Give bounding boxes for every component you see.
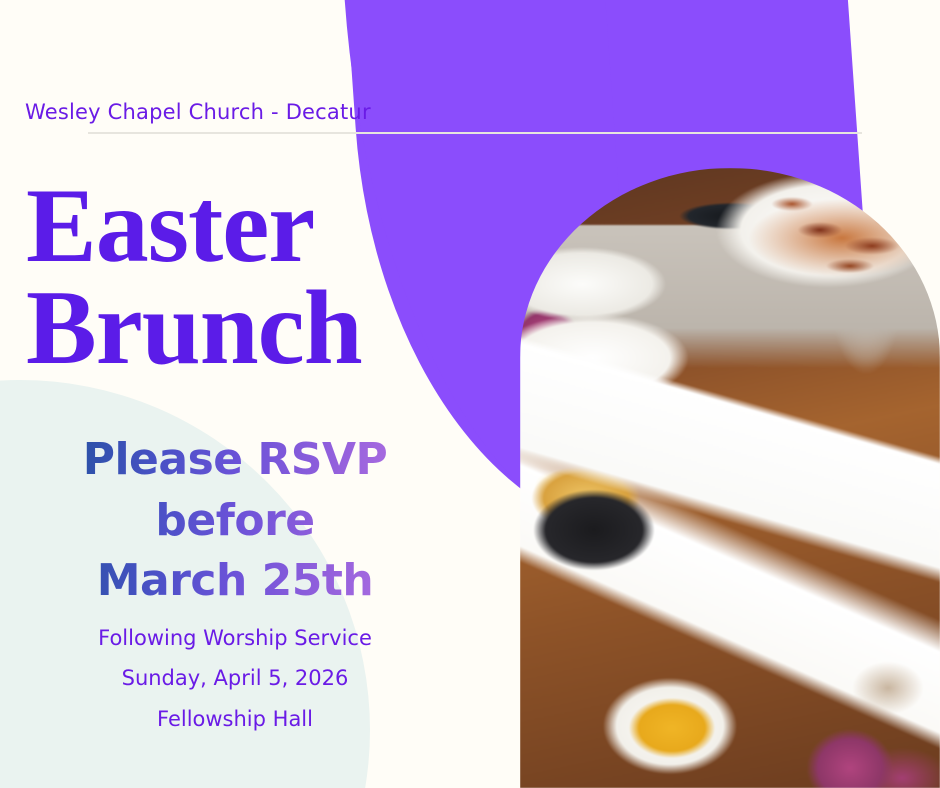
detail-line-location: Fellowship Hall	[0, 699, 470, 739]
page-title: Easter Brunch	[26, 175, 456, 379]
headline-line-1: Easter	[26, 175, 456, 277]
rsvp-callout: Please RSVP before March 25th	[0, 430, 470, 612]
event-details: Following Worship Service Sunday, April …	[0, 618, 470, 739]
organization-name: Wesley Chapel Church - Decatur	[25, 100, 371, 124]
headline-line-2: Brunch	[26, 277, 456, 379]
easter-brunch-flyer: Wesley Chapel Church - Decatur Easter Br…	[0, 0, 940, 788]
rsvp-line-2: March 25th	[0, 551, 470, 612]
rsvp-line-1: Please RSVP before	[0, 430, 470, 551]
detail-line-service: Following Worship Service	[0, 618, 470, 658]
detail-line-date: Sunday, April 5, 2026	[0, 658, 470, 698]
